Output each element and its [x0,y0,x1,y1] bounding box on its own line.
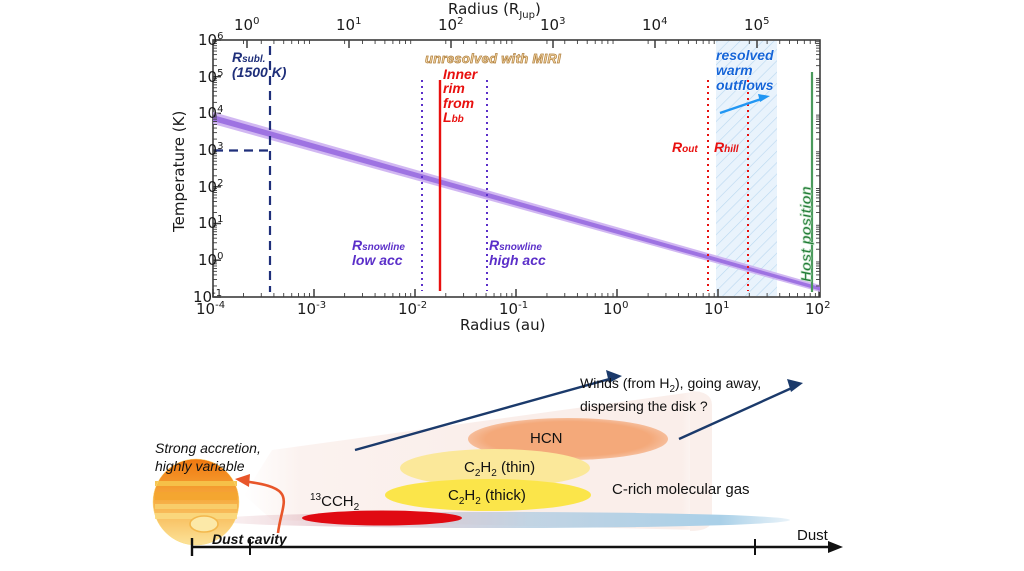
x-tick-1e1: 101 [704,300,729,318]
accretion-label: Strong accretion, highly variable [155,440,261,475]
x-tick-1em4: 10-4 [196,300,225,318]
x-tick-1em2: 10-2 [398,300,427,318]
r-sublimation-label: Rsubl. (1500 K) [232,50,286,79]
cartoon-svg [0,335,1024,571]
radial-axis [192,538,843,556]
c2h2-thin-label: C2H2 (thin) [464,459,535,479]
y-tick-1e1: 101 [198,214,223,232]
r-out-label: Rout [672,140,698,155]
host-position-label: Host position [798,186,815,282]
resolved-warm-outflows-label: resolved warm outflows [716,48,774,93]
top-tick-1e0: 100 [234,16,259,34]
y-tick-1e2: 102 [198,178,223,196]
dust-label: Dust [797,527,828,544]
inner-rim-label: Inner rim from Lbb [443,67,477,125]
r-hill-label: Rhill [714,140,739,155]
x-tick-1e0: 100 [603,300,628,318]
y-tick-1e5: 105 [198,68,223,86]
hcn-label: HCN [530,430,563,447]
dust-cavity-label: Dust cavity [212,531,287,547]
top-tick-1e1: 101 [336,16,361,34]
dust-layer [210,512,790,528]
x-tick-1em3: 10-3 [297,300,326,318]
snowline-low-acc-label: Rsnowline low acc [352,238,405,267]
y-axis-title: Temperature (K) [170,111,188,232]
y-tick-1e6: 106 [198,31,223,49]
top-tick-1e5: 105 [744,16,769,34]
top-tick-1e3: 103 [540,16,565,34]
c-rich-gas-label: C-rich molecular gas [612,481,750,498]
unresolved-miri-label: unresolved with MIRI [425,51,561,66]
y-tick-1e0: 100 [198,251,223,269]
c2h2-thick-label: C2H2 (thick) [448,487,526,507]
x-axis-title: Radius (au) [460,316,545,334]
y-tick-1e3: 103 [198,141,223,159]
snowline-high-acc-label: Rsnowline high acc [489,238,546,267]
figure-root: 106 105 104 103 102 101 100 10-1 10-4 10… [0,0,1024,571]
x-tick-1e2: 102 [805,300,830,318]
13cch2-label: 13CCH2 [310,492,359,513]
top-axis-title: Radius (RJup) [448,0,541,21]
top-tick-1e4: 104 [642,16,667,34]
y-tick-1e4: 104 [198,104,223,122]
winds-label: Winds (from H2), going away, dispersing … [580,374,761,416]
